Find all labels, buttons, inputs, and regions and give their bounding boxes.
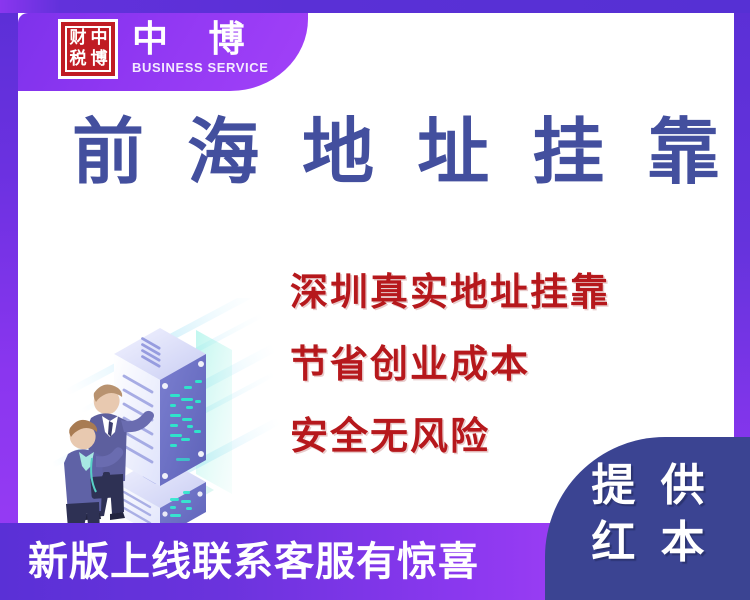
isometric-server-illustration — [36, 298, 291, 523]
red-certificate-badge: 提 供 红 本 — [545, 437, 750, 600]
seal-character: 中 — [88, 28, 109, 49]
seal-character: 财 — [67, 28, 88, 49]
brand-name-en: BUSINESS SERVICE — [132, 60, 279, 76]
seal-character: 税 — [67, 49, 88, 70]
feature-item: 深圳真实地址挂靠 — [290, 256, 710, 328]
brand-logo: 财 中 税 博 中 博 BUSINESS SERVICE — [58, 19, 279, 79]
brand-name-cn: 中 博 — [132, 21, 279, 59]
seal-inner-frame: 财 中 税 博 — [65, 26, 111, 72]
brand-text-block: 中 博 BUSINESS SERVICE — [132, 19, 279, 76]
promo-banner: 财 中 税 博 中 博 BUSINESS SERVICE 前 海 地 址 挂 靠… — [0, 0, 750, 600]
feature-item: 节省创业成本 — [290, 328, 710, 400]
page-title: 前 海 地 址 挂 靠 — [72, 110, 712, 194]
top-accent-strip — [0, 0, 750, 13]
server-tower — [114, 328, 206, 486]
footer-promo-text: 新版上线联系客服有惊喜 — [28, 536, 479, 588]
badge-line-1: 提 供 — [551, 457, 750, 514]
seal-character: 博 — [88, 49, 109, 70]
company-seal-icon: 财 中 税 博 — [58, 19, 118, 79]
badge-text-block: 提 供 红 本 — [545, 457, 750, 571]
badge-line-2: 红 本 — [551, 514, 750, 571]
left-accent-strip — [0, 0, 18, 600]
